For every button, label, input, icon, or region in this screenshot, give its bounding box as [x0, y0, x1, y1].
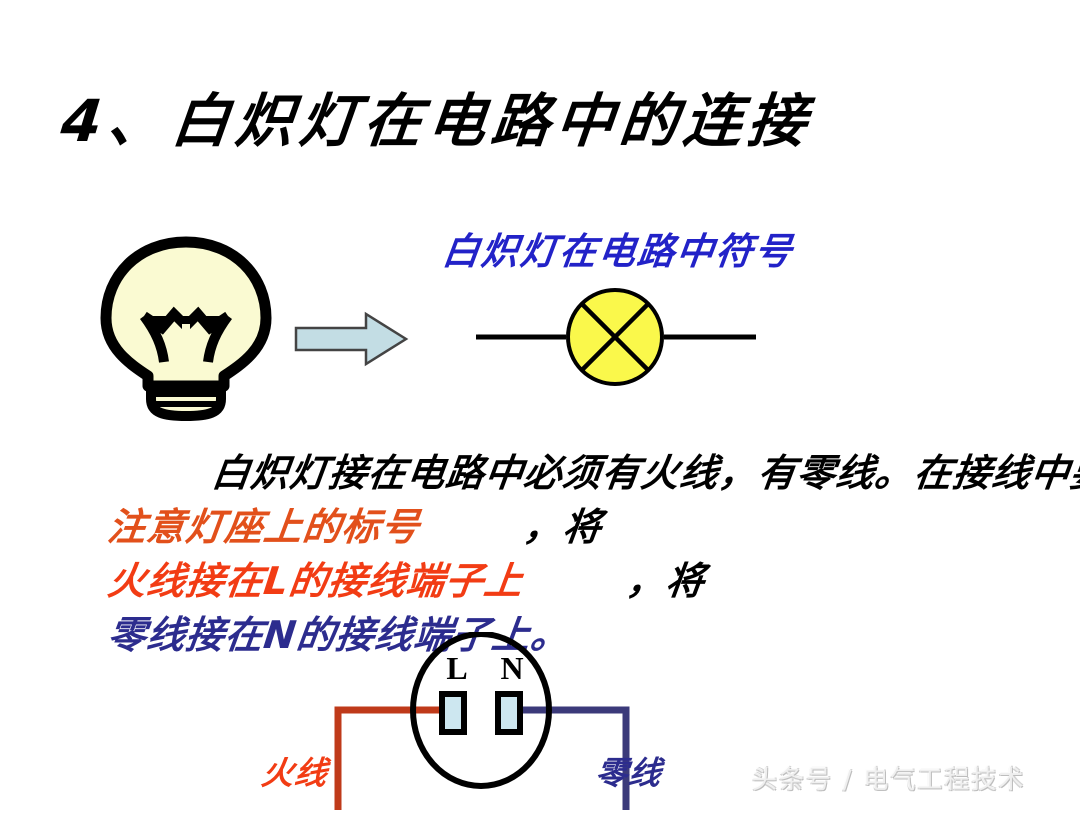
neutral-wire-label: 零线 — [593, 748, 665, 794]
live-wire-label: 火线 — [259, 748, 331, 794]
slide-canvas: 4、白炽灯在电路中的连接 白炽灯在电路中符号 — [0, 0, 1080, 810]
light-bulb-icon — [96, 236, 276, 421]
lamp-circuit-symbol-icon — [470, 285, 760, 390]
body-segment-1: 白炽灯接在电路中必须有火线，有零线。在接线中要 — [105, 446, 1080, 500]
lamp-circuit-symbol — [470, 285, 760, 390]
body-segment-4: 火线接在L的接线端子上 — [1, 554, 527, 608]
neutral-terminal-label: N — [497, 650, 527, 687]
page-title: 4、白炽灯在电路中的连接 — [58, 74, 947, 158]
watermark-text: 头条号 / 电气工程技术 — [752, 760, 1025, 796]
body-segment-2: 注意灯座上的标号 — [1, 500, 424, 554]
live-terminal-label: L — [442, 650, 472, 687]
body-segment-3: ，将 — [417, 500, 606, 554]
right-arrow-icon — [292, 308, 410, 370]
live-terminal-block — [442, 694, 464, 732]
symbol-caption-label: 白炽灯在电路中符号 — [440, 221, 798, 275]
light-bulb-illustration — [96, 236, 276, 421]
neutral-terminal-block — [498, 694, 520, 732]
right-arrow-illustration — [292, 308, 410, 370]
body-segment-5: ，将 — [520, 554, 709, 608]
body-paragraph: 白炽灯接在电路中必须有火线，有零线。在接线中要注意灯座上的标号，将火线接在L的接… — [4, 446, 1078, 662]
